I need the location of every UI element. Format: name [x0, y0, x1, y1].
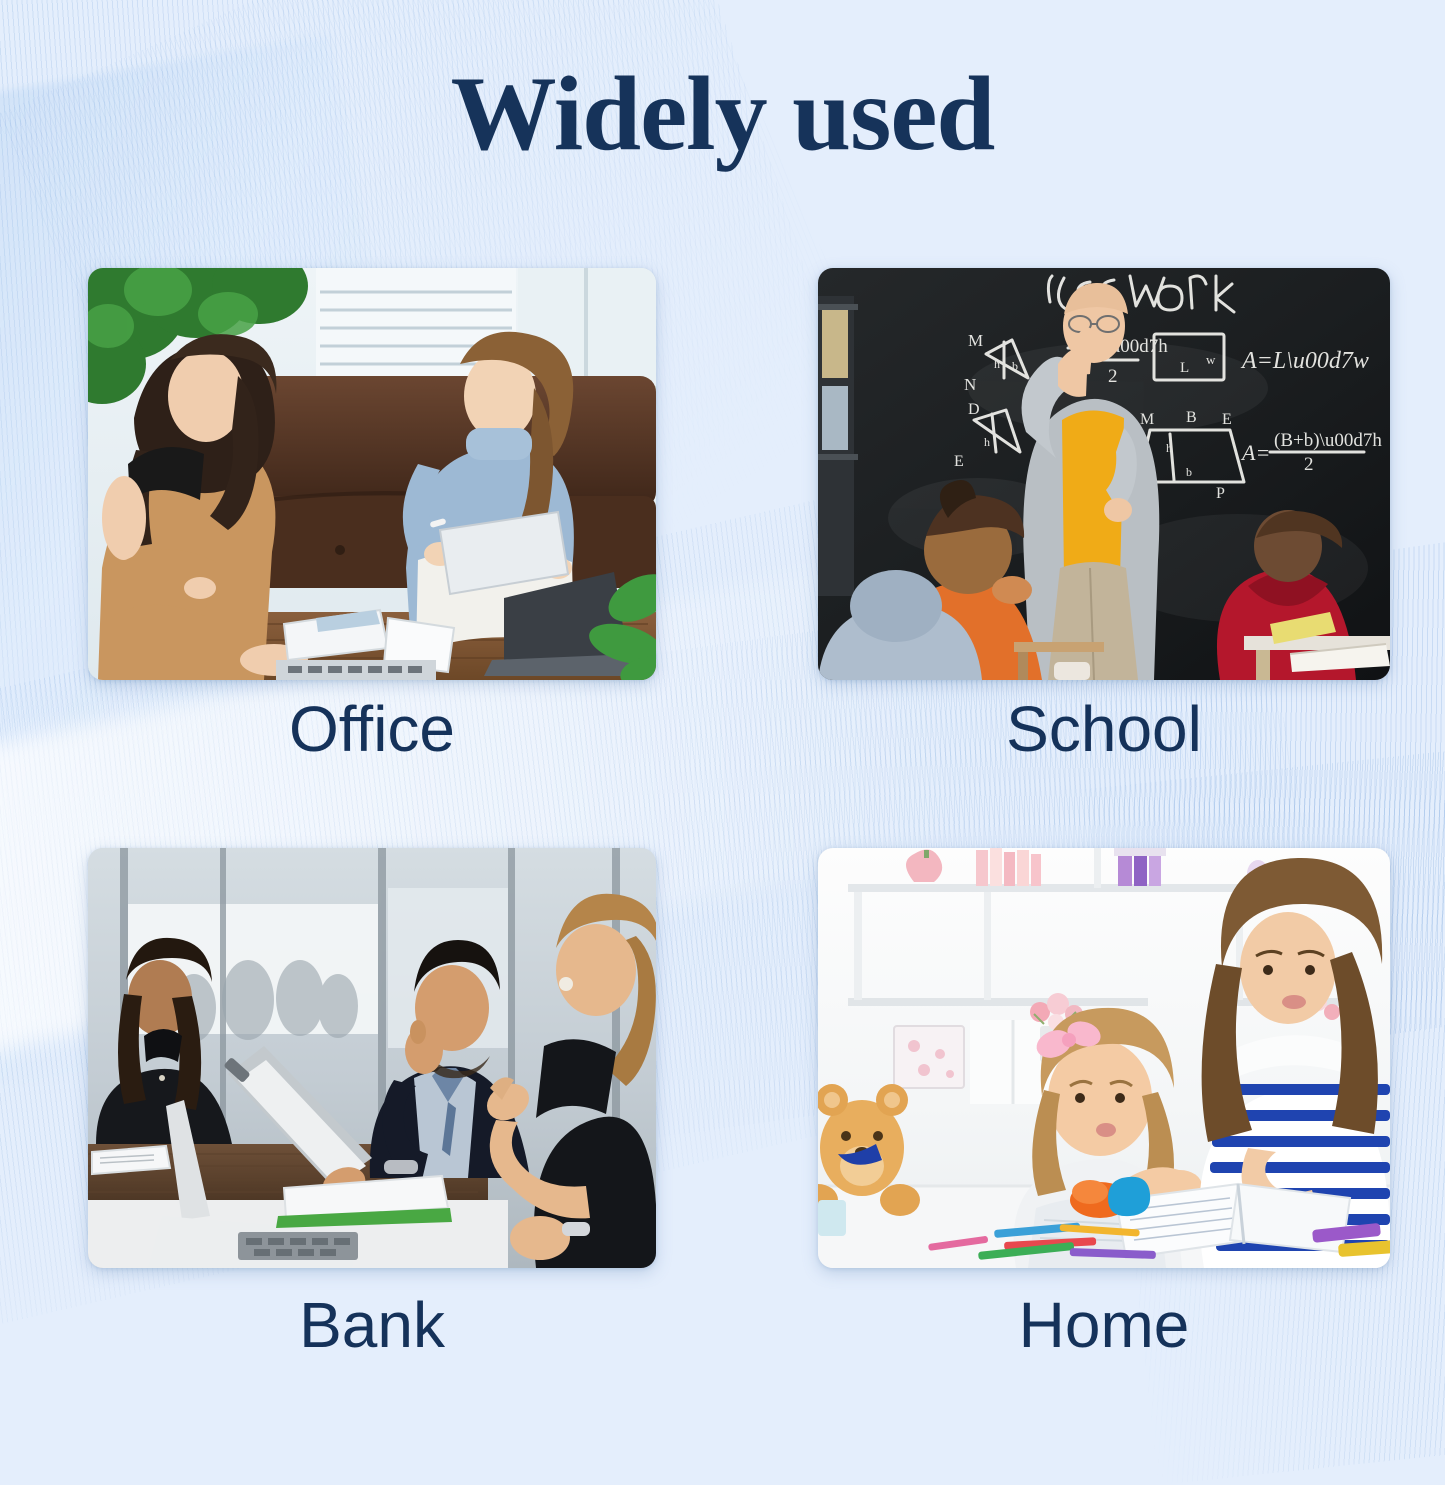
svg-text:2: 2: [1304, 454, 1314, 475]
svg-text:M: M: [968, 331, 983, 350]
svg-text:M: M: [1140, 411, 1154, 428]
page-title: Widely used: [0, 58, 1445, 169]
photo-school: M h b N b\u00d7h 2 L w A=L\u00d7w: [818, 268, 1390, 680]
photo-office: [88, 268, 656, 680]
svg-text:N: N: [964, 375, 976, 394]
svg-text:L: L: [1180, 360, 1189, 376]
svg-text:E: E: [1222, 411, 1232, 428]
use-case-label-school: School: [818, 692, 1390, 766]
svg-text:b: b: [1012, 359, 1018, 373]
use-case-card-bank: [88, 848, 656, 1268]
use-case-label-home: Home: [818, 1288, 1390, 1362]
use-case-grid: Office: [0, 0, 1445, 1445]
svg-text:E: E: [954, 453, 964, 470]
svg-text:h: h: [1166, 441, 1172, 455]
svg-text:b: b: [1186, 465, 1192, 479]
photo-bank: [88, 848, 656, 1268]
svg-text:P: P: [1216, 485, 1225, 502]
use-case-label-office: Office: [88, 692, 656, 766]
svg-text:D: D: [968, 401, 980, 418]
svg-text:B: B: [1186, 409, 1197, 426]
use-case-card-home: [818, 848, 1390, 1268]
photo-home: [818, 848, 1390, 1268]
use-case-card-school: M h b N b\u00d7h 2 L w A=L\u00d7w: [818, 268, 1390, 680]
svg-text:(B+b)\u00d7h: (B+b)\u00d7h: [1274, 430, 1382, 451]
svg-text:A=L\u00d7w: A=L\u00d7w: [1240, 348, 1369, 374]
svg-text:h: h: [984, 435, 990, 449]
svg-text:2: 2: [1108, 366, 1118, 387]
use-case-card-office: [88, 268, 656, 680]
svg-text:w: w: [1206, 352, 1216, 367]
svg-text:A=: A=: [1240, 440, 1270, 465]
use-case-label-bank: Bank: [88, 1288, 656, 1362]
svg-text:h: h: [994, 357, 1000, 371]
